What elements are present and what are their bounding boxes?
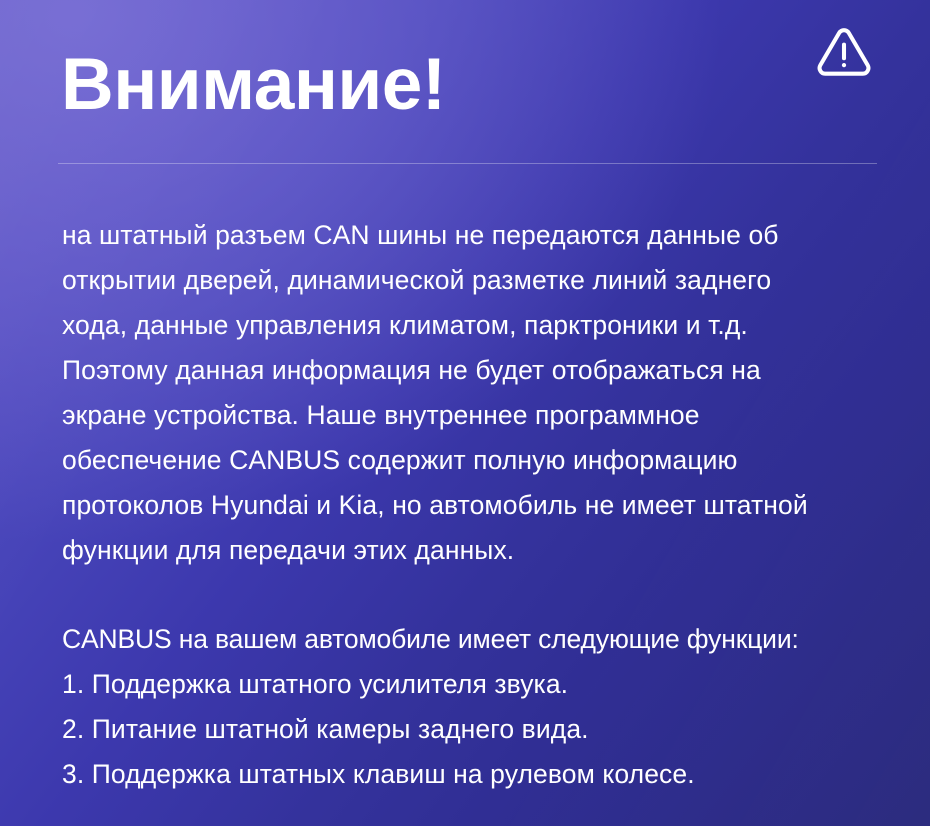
header-divider bbox=[58, 163, 877, 164]
notice-line: на штатный разъем CAN шины не передаются… bbox=[62, 213, 878, 258]
features-paragraph: CANBUS на вашем автомобиле имеет следующ… bbox=[52, 617, 878, 797]
notice-line: функции для передачи этих данных. bbox=[62, 528, 878, 573]
notice-line: открытии дверей, динамической разметке л… bbox=[62, 258, 878, 303]
notice-line: хода, данные управления климатом, парктр… bbox=[62, 303, 878, 348]
feature-item-3: 3. Поддержка штатных клавиш на рулевом к… bbox=[62, 752, 878, 797]
notice-paragraph: на штатный разъем CAN шины не передаются… bbox=[52, 213, 878, 573]
notice-line: Поэтому данная информация не будет отобр… bbox=[62, 348, 878, 393]
feature-item-2: 2. Питание штатной камеры заднего вида. bbox=[62, 707, 878, 752]
banner-content: Внимание! на штатный разъем CAN шины не … bbox=[0, 0, 930, 797]
features-intro: CANBUS на вашем автомобиле имеет следующ… bbox=[62, 617, 878, 662]
notice-line: протоколов Hyundai и Kia, но автомобиль … bbox=[62, 483, 878, 528]
warning-banner: Внимание! на штатный разъем CAN шины не … bbox=[0, 0, 930, 826]
banner-header: Внимание! bbox=[52, 0, 878, 172]
notice-block: на штатный разъем CAN шины не передаются… bbox=[52, 213, 878, 573]
page-title: Внимание! bbox=[61, 48, 446, 121]
warning-triangle-icon bbox=[813, 20, 875, 82]
features-block: CANBUS на вашем автомобиле имеет следующ… bbox=[52, 617, 878, 797]
banner-body: на штатный разъем CAN шины не передаются… bbox=[52, 172, 878, 797]
notice-line: обеспечение CANBUS содержит полную инфор… bbox=[62, 438, 878, 483]
notice-line: экране устройства. Наше внутреннее прогр… bbox=[62, 393, 878, 438]
feature-item-1: 1. Поддержка штатного усилителя звука. bbox=[62, 662, 878, 707]
